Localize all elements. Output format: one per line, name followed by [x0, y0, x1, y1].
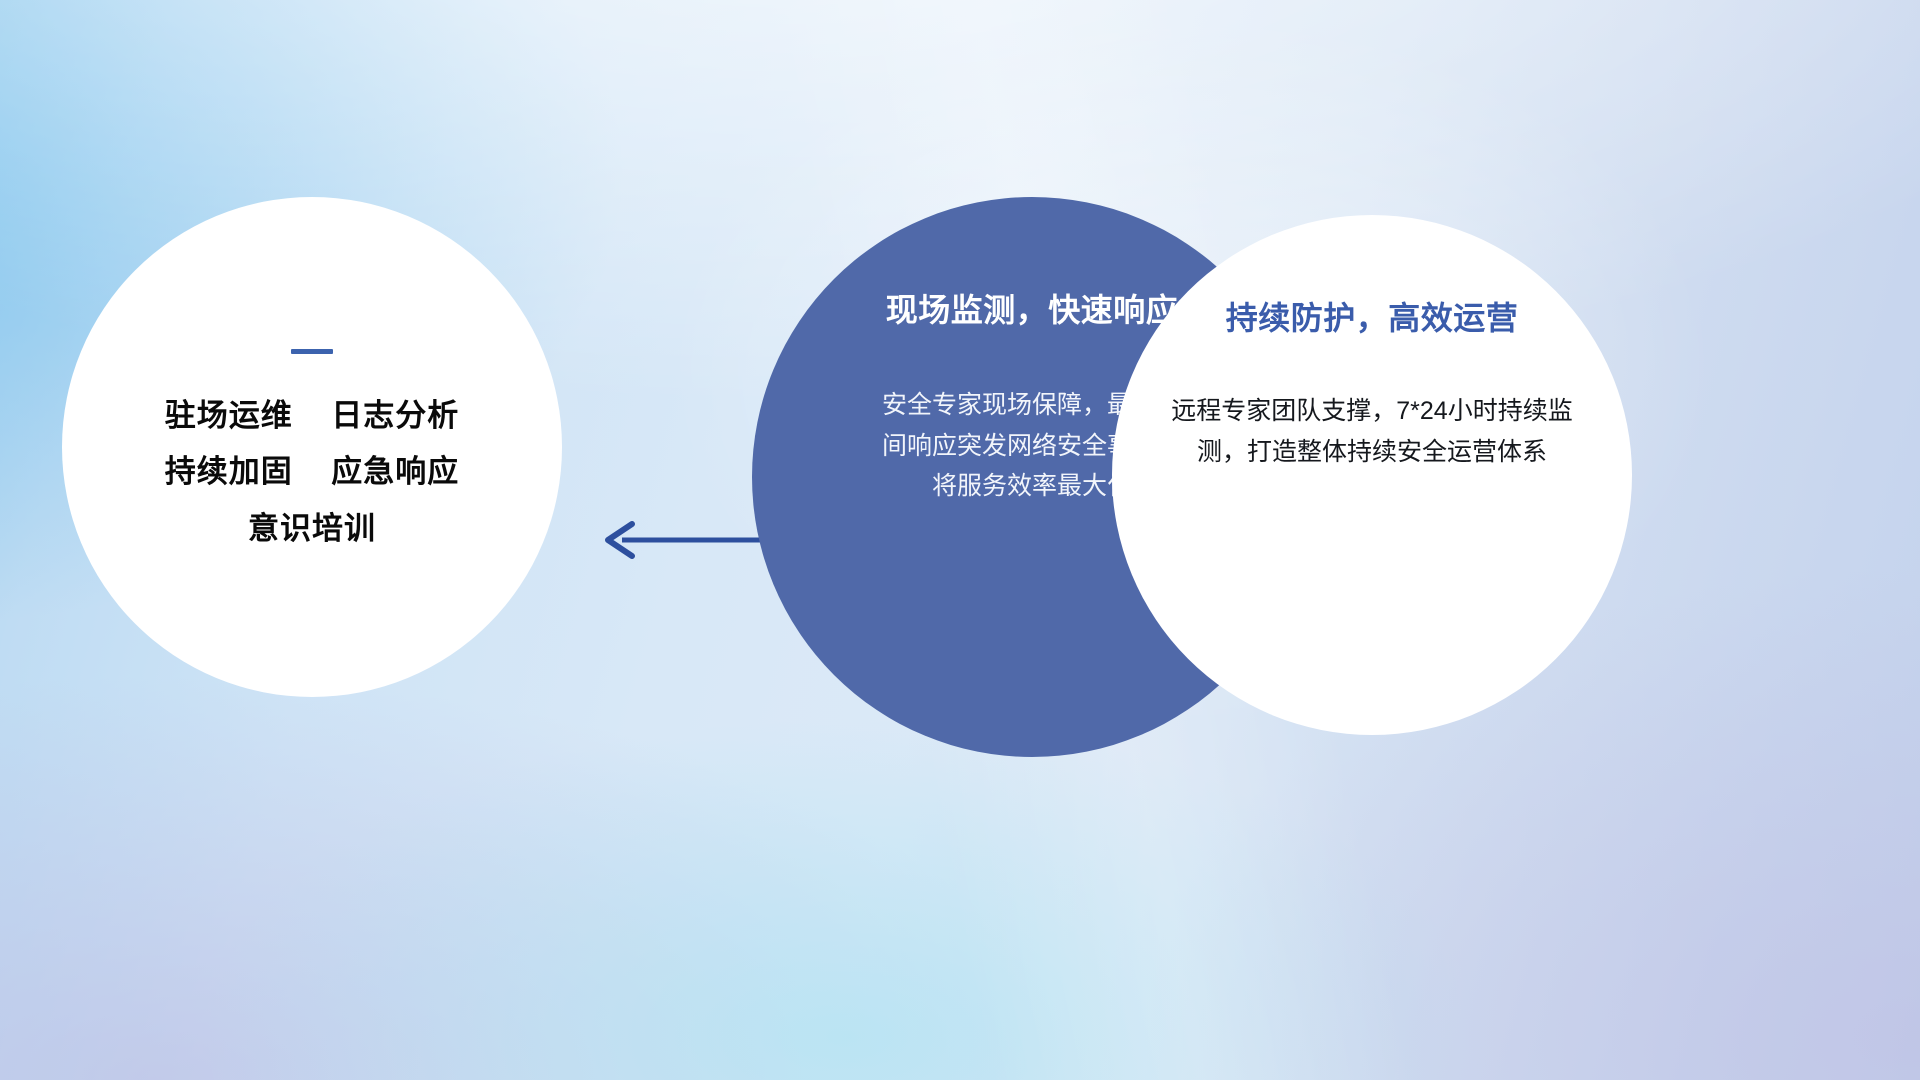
right-circle-title: 持续防护，高效运营: [1226, 293, 1519, 339]
left-capability-list: 驻场运维 日志分析 持续加固 应急响应 意识培训: [165, 400, 459, 546]
divider-dash: [291, 349, 333, 354]
left-capability-circle: 驻场运维 日志分析 持续加固 应急响应 意识培训: [62, 197, 562, 697]
list-item: 意识培训: [248, 513, 376, 546]
list-item: 持续加固 应急响应: [165, 456, 459, 489]
middle-circle-title: 现场监测，快速响应: [886, 285, 1179, 331]
right-circle-body: 远程专家团队支撑，7*24小时持续监测，打造整体持续安全运营体系: [1167, 391, 1577, 472]
right-operations-circle: 持续防护，高效运营 远程专家团队支撑，7*24小时持续监测，打造整体持续安全运营…: [1112, 215, 1632, 735]
slide-canvas: 驻场运维 日志分析 持续加固 应急响应 意识培训 现场监测，快速响应 安全专家现…: [0, 0, 1920, 1080]
list-item: 驻场运维 日志分析: [165, 400, 459, 433]
